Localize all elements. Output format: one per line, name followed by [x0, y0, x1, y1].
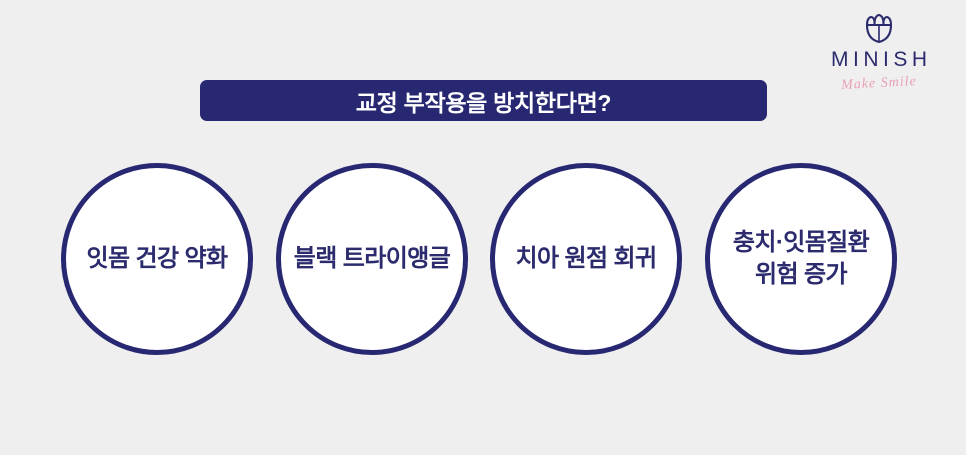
- consequence-circle: 잇몸 건강 약화: [61, 163, 253, 355]
- consequence-circle-row: 잇몸 건강 약화 블랙 트라이앵글 치아 원점 회귀 충치·잇몸질환 위험 증가: [0, 163, 966, 355]
- tooth-tulip-icon: [862, 14, 896, 44]
- page-title: 교정 부작용을 방치한다면?: [356, 84, 611, 118]
- consequence-label: 잇몸 건강 약화: [78, 243, 235, 275]
- consequence-circle: 충치·잇몸질환 위험 증가: [705, 163, 897, 355]
- brand-tagline: Make Smile: [814, 74, 945, 95]
- consequence-label: 블랙 트라이앵글: [286, 243, 458, 275]
- consequence-circle: 블랙 트라이앵글: [276, 163, 468, 355]
- consequence-label: 충치·잇몸질환 위험 증가: [725, 227, 877, 290]
- title-banner: 교정 부작용을 방치한다면?: [200, 80, 767, 121]
- consequence-circle: 치아 원점 회귀: [490, 163, 682, 355]
- brand-name: MINISH: [814, 49, 944, 70]
- consequence-label: 치아 원점 회귀: [507, 243, 664, 275]
- brand-logo: MINISH Make Smile: [814, 14, 944, 102]
